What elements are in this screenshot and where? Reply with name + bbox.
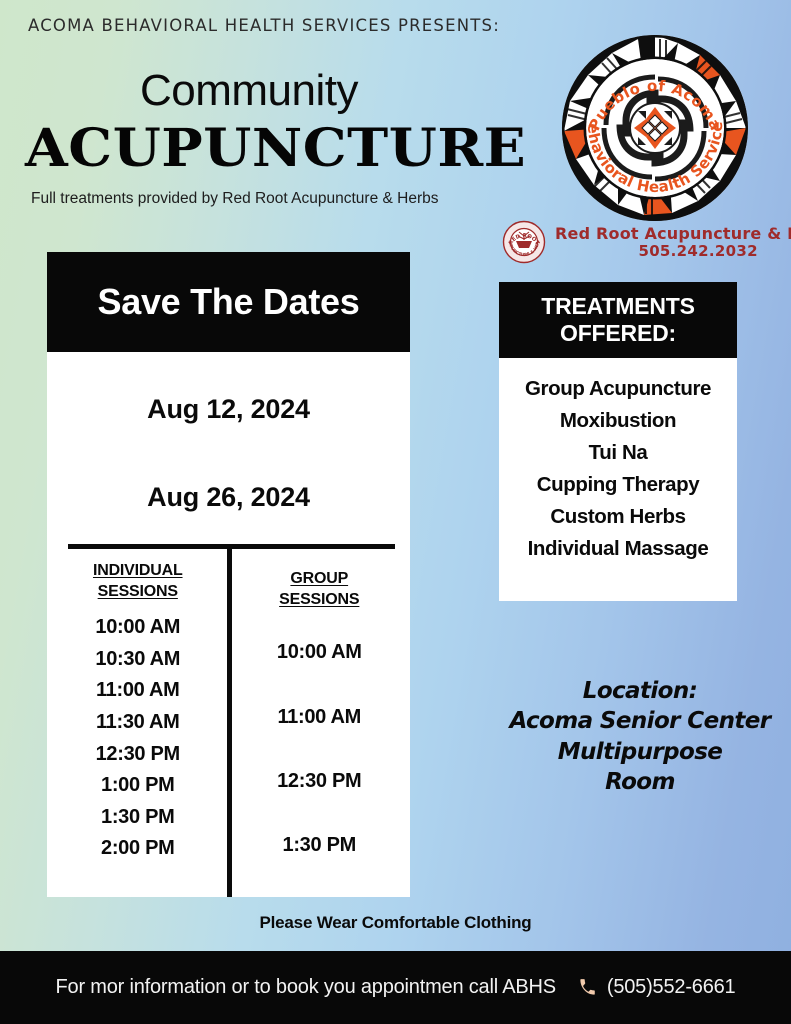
save-the-dates-header: Save The Dates — [47, 252, 410, 352]
individual-time: 11:00 AM — [47, 675, 229, 707]
group-header-line1: GROUP — [229, 568, 411, 589]
location-line-2: Multipurpose — [490, 737, 790, 767]
save-the-dates-title: Save The Dates — [98, 281, 360, 323]
location-label: Location: — [490, 676, 790, 706]
treatment-item: Custom Herbs — [499, 501, 737, 533]
group-time: 12:30 PM — [229, 749, 411, 813]
location-line-3: Room — [490, 767, 790, 797]
treatment-item: Group Acupuncture — [499, 373, 737, 405]
red-root-name: Red Root Acupuncture & Herbs — [555, 225, 791, 243]
treatments-offered-box: TREATMENTS OFFERED: Group Acupuncture Mo… — [499, 282, 737, 601]
event-date-1: Aug 12, 2024 — [47, 394, 410, 425]
footer-info-text: For mor information or to book you appoi… — [56, 976, 556, 999]
individual-header-line1: INDIVIDUAL — [47, 560, 229, 581]
group-time: 11:00 AM — [229, 685, 411, 749]
treatments-header-line2: OFFERED: — [560, 320, 676, 347]
title-acupuncture: ACUPUNCTURE — [25, 118, 526, 179]
red-root-phone: 505.242.2032 — [555, 243, 791, 260]
location-block: Location: Acoma Senior Center Multipurpo… — [490, 676, 790, 797]
red-root-seal-icon: RED ROOT ACUPUNCTURE & HERBS — [502, 220, 546, 264]
group-header-line2: SESSIONS — [229, 589, 411, 610]
treatment-item: Individual Massage — [499, 533, 737, 565]
footer-bar: For mor information or to book you appoi… — [0, 951, 791, 1024]
treatments-header-line1: TREATMENTS — [541, 293, 694, 320]
header-subtitle: Full treatments provided by Red Root Acu… — [31, 190, 439, 208]
treatment-item: Cupping Therapy — [499, 469, 737, 501]
clothing-notice: Please Wear Comfortable Clothing — [0, 913, 791, 933]
individual-time: 12:30 PM — [47, 739, 229, 771]
presents-line: ACOMA BEHAVIORAL HEALTH SERVICES PRESENT… — [28, 16, 500, 35]
treatment-item: Moxibustion — [499, 405, 737, 437]
individual-time: 1:00 PM — [47, 770, 229, 802]
footer-phone-group[interactable]: (505)552-6661 — [578, 976, 736, 999]
individual-header-line2: SESSIONS — [47, 581, 229, 602]
individual-time: 10:30 AM — [47, 644, 229, 676]
individual-time: 10:00 AM — [47, 612, 229, 644]
group-time: 10:00 AM — [229, 620, 411, 684]
individual-time: 1:30 PM — [47, 802, 229, 834]
treatment-item: Tui Na — [499, 437, 737, 469]
location-line-1: Acoma Senior Center — [490, 706, 790, 736]
treatments-header: TREATMENTS OFFERED: — [499, 282, 737, 358]
footer-phone-number: (505)552-6661 — [607, 976, 736, 999]
individual-sessions-header: INDIVIDUAL SESSIONS — [47, 560, 229, 602]
group-sessions-header: GROUP SESSIONS — [229, 568, 411, 610]
sessions-table: INDIVIDUAL SESSIONS 10:00 AM 10:30 AM 11… — [47, 560, 410, 878]
individual-time: 11:30 AM — [47, 707, 229, 739]
individual-sessions-column: INDIVIDUAL SESSIONS 10:00 AM 10:30 AM 11… — [47, 560, 229, 878]
red-root-partner: RED ROOT ACUPUNCTURE & HERBS Red Root Ac… — [502, 220, 791, 264]
phone-icon — [578, 978, 597, 997]
treatments-list: Group Acupuncture Moxibustion Tui Na Cup… — [499, 358, 737, 565]
individual-time: 2:00 PM — [47, 833, 229, 865]
group-time: 1:30 PM — [229, 813, 411, 877]
flyer-canvas: ACOMA BEHAVIORAL HEALTH SERVICES PRESENT… — [0, 0, 791, 1024]
save-the-dates-card: Save The Dates Aug 12, 2024 Aug 26, 2024… — [47, 252, 410, 897]
group-sessions-column: GROUP SESSIONS 10:00 AM 11:00 AM 12:30 P… — [229, 560, 411, 878]
title-community: Community — [140, 66, 358, 116]
event-date-2: Aug 26, 2024 — [47, 482, 410, 513]
acoma-seal-logo: Pueblo of Acoma Behavioral Health Servic… — [560, 33, 750, 223]
